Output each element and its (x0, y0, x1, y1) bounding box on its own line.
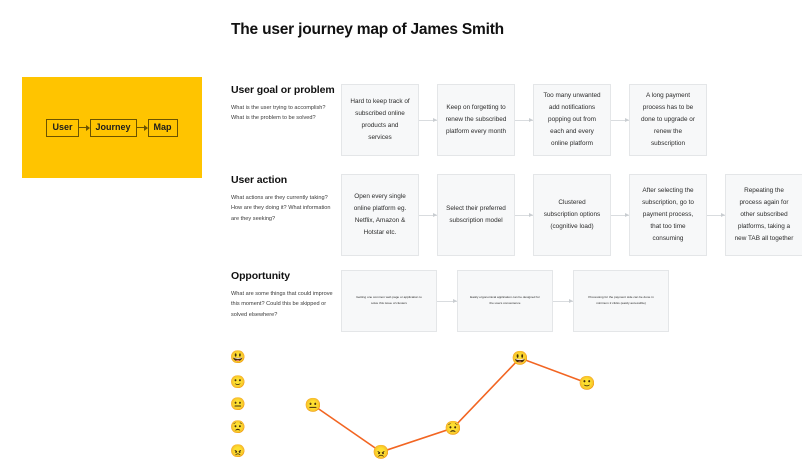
row-heading: User goal or problem (231, 84, 335, 96)
journey-map-logo-block: User Journey Map (22, 77, 202, 178)
logo-box-journey: Journey (90, 119, 137, 137)
sentiment-point-happy[interactable]: 🙂 (579, 376, 596, 390)
journey-card-text: Clustered subscription options (cognitiv… (534, 197, 610, 233)
journey-card[interactable]: Clustered subscription options (cognitiv… (533, 174, 611, 256)
arrow-right-icon (137, 124, 148, 131)
sentiment-point-angry[interactable]: 😠 (373, 445, 390, 459)
card-track: Hard to keep track of subscribed online … (341, 84, 707, 156)
card-track: Open every single online platform eg. Ne… (341, 174, 802, 256)
row-heading: User action (231, 174, 335, 186)
row-label: User action What actions are they curren… (231, 174, 335, 224)
journey-card[interactable]: Too many unwanted add notifications popp… (533, 84, 611, 156)
arrow-right-icon (79, 124, 90, 131)
arrow-right-icon (515, 115, 533, 125)
row-label: Opportunity What are some things that co… (231, 270, 335, 320)
journey-card-text: Hard to keep track of subscribed online … (342, 96, 418, 143)
sentiment-point-neutral[interactable]: 😐 (305, 398, 322, 412)
sentiment-chart: 😃🙂😐😟😠 😐😠😟😃🙂 (228, 344, 628, 470)
sentiment-plot: 😐😠😟😃🙂 (228, 344, 628, 470)
journey-card-text: Repeating the process again for other su… (726, 185, 802, 244)
journey-card-text: Processing for the payment side can be d… (574, 295, 668, 307)
journey-card[interactable]: Repeating the process again for other su… (725, 174, 802, 256)
journey-card-text: Getting one common web page or applicati… (342, 295, 436, 307)
journey-card[interactable]: Processing for the payment side can be d… (573, 270, 669, 332)
sentiment-point-sad[interactable]: 😟 (445, 421, 462, 435)
journey-card-text: Easily ergonomical application can be de… (458, 295, 552, 307)
journey-card-text: Too many unwanted add notifications popp… (534, 90, 610, 149)
arrow-right-icon (515, 210, 533, 220)
journey-card-text: A long payment process has to be done to… (630, 90, 706, 149)
journey-card[interactable]: A long payment process has to be done to… (629, 84, 707, 156)
row-description: What actions are they currently taking? … (231, 193, 335, 224)
journey-card[interactable]: Hard to keep track of subscribed online … (341, 84, 419, 156)
row-description: What are some things that could improve … (231, 289, 335, 320)
logo-box-user: User (46, 119, 78, 137)
arrow-right-icon (419, 115, 437, 125)
row-description: What is the user trying to accomplish? W… (231, 103, 335, 124)
journey-card-text: Select their preferred subscription mode… (438, 203, 514, 227)
arrow-right-icon (611, 115, 629, 125)
page-title: The user journey map of James Smith (231, 21, 504, 39)
journey-card[interactable]: Select their preferred subscription mode… (437, 174, 515, 256)
sentiment-point-very-happy[interactable]: 😃 (512, 351, 529, 365)
arrow-right-icon (707, 210, 725, 220)
journey-card[interactable]: Getting one common web page or applicati… (341, 270, 437, 332)
row-heading: Opportunity (231, 270, 335, 282)
row-label: User goal or problem What is the user tr… (231, 84, 335, 124)
journey-card-text: Open every single online platform eg. Ne… (342, 191, 418, 238)
journey-card[interactable]: Keep on forgetting to renew the subscrib… (437, 84, 515, 156)
journey-card-text: After selecting the subscription, go to … (630, 185, 706, 244)
arrow-right-icon (419, 210, 437, 220)
card-track: Getting one common web page or applicati… (341, 270, 669, 332)
journey-card[interactable]: Easily ergonomical application can be de… (457, 270, 553, 332)
arrow-right-icon (553, 296, 573, 306)
logo-chain: User Journey Map (46, 119, 177, 137)
arrow-right-icon (611, 210, 629, 220)
arrow-right-icon (437, 296, 457, 306)
journey-card-text: Keep on forgetting to renew the subscrib… (438, 102, 514, 138)
journey-card[interactable]: After selecting the subscription, go to … (629, 174, 707, 256)
journey-card[interactable]: Open every single online platform eg. Ne… (341, 174, 419, 256)
logo-box-map: Map (148, 119, 178, 137)
